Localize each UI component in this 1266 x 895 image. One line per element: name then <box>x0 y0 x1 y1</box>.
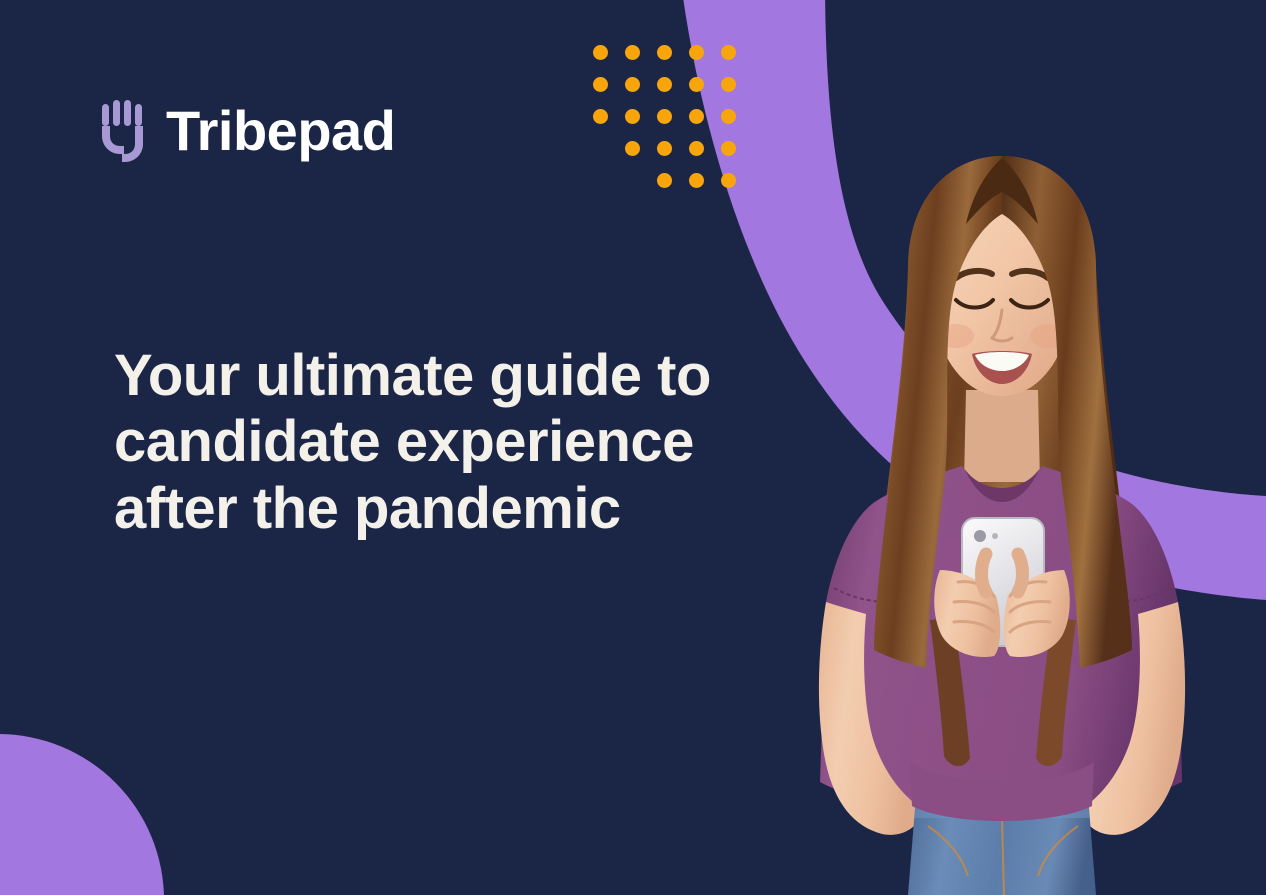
orange-dot-grid <box>593 45 753 190</box>
dot-r5-c5 <box>721 173 736 188</box>
dot-r3-c3 <box>657 109 672 124</box>
woman-using-smartphone-photo <box>790 150 1210 895</box>
thumb-right <box>1018 554 1023 592</box>
tribepad-hand-mark <box>100 100 152 162</box>
dot-r1-c3 <box>657 45 672 60</box>
dot-r2-c1 <box>593 77 608 92</box>
dot-r2-c3 <box>657 77 672 92</box>
tribepad-logo[interactable]: Tribepad <box>100 100 395 162</box>
logo-wordmark: Tribepad <box>166 103 395 159</box>
dot-r2-c4 <box>689 77 704 92</box>
dot-r2-c5 <box>721 77 736 92</box>
thumb-left <box>982 554 987 592</box>
dot-r4-c4 <box>689 141 704 156</box>
dot-r2-c2 <box>625 77 640 92</box>
dot-r1-c2 <box>625 45 640 60</box>
logo-palm <box>102 126 124 154</box>
logo-finger-2 <box>113 100 120 126</box>
dot-r4-c5 <box>721 141 736 156</box>
dot-r5-c4 <box>689 173 704 188</box>
logo-finger-1 <box>102 104 109 126</box>
ebook-cover: Tribepad Your ultimate guide to candidat… <box>0 0 1266 895</box>
dot-r1-c4 <box>689 45 704 60</box>
dot-r4-c2 <box>625 141 640 156</box>
logo-finger-4 <box>135 104 142 126</box>
logo-thumb <box>122 126 143 162</box>
headline-line-1: Your ultimate guide to <box>114 343 754 409</box>
dot-r1-c5 <box>721 45 736 60</box>
dot-r1-c1 <box>593 45 608 60</box>
purple-circle-bottom-left <box>0 734 164 895</box>
dot-r3-c1 <box>593 109 608 124</box>
logo-finger-3 <box>124 100 131 126</box>
neck <box>964 390 1040 482</box>
headline-line-2: candidate experience <box>114 409 754 475</box>
headline-line-3: after the pandemic <box>114 476 754 542</box>
dot-r3-c2 <box>625 109 640 124</box>
phone-flash <box>992 533 998 539</box>
dot-r4-c3 <box>657 141 672 156</box>
dot-r3-c5 <box>721 109 736 124</box>
page-title: Your ultimate guide to candidate experie… <box>114 343 754 542</box>
phone-camera <box>974 530 986 542</box>
dot-r5-c3 <box>657 173 672 188</box>
dot-r3-c4 <box>689 109 704 124</box>
